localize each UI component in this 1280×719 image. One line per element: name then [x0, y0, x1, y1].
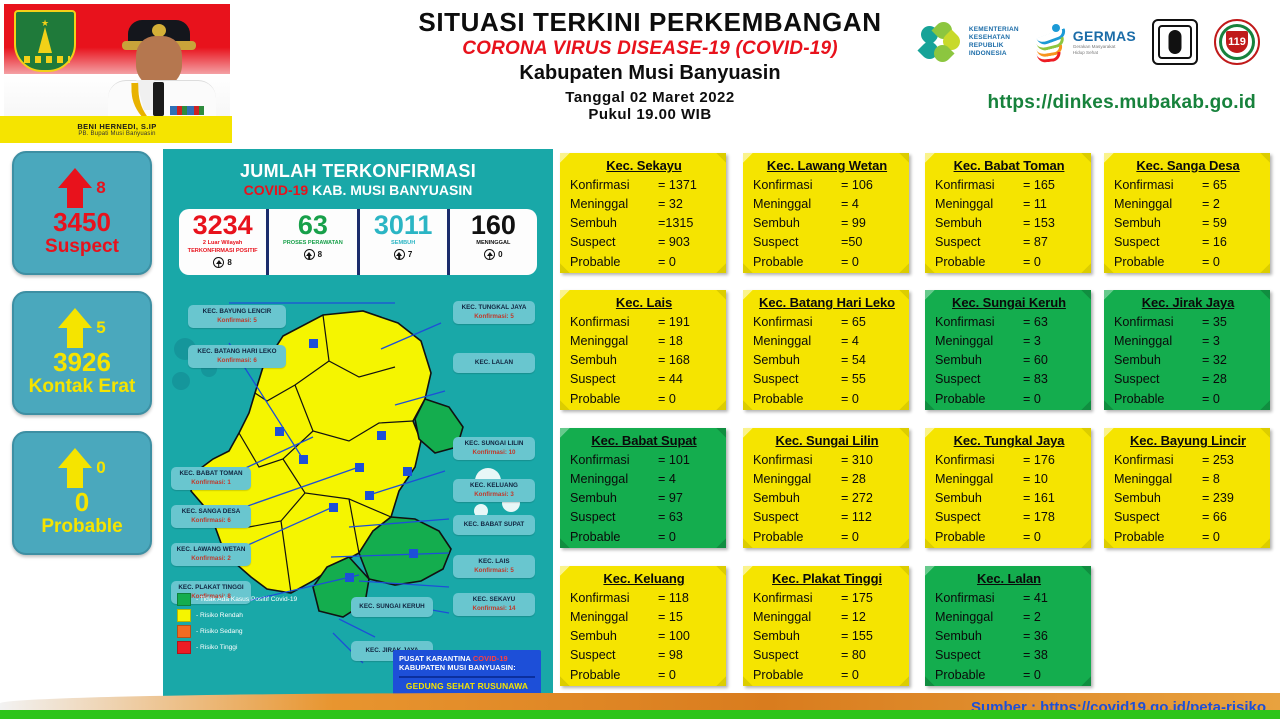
- arrow-up-circle-icon: [484, 249, 495, 260]
- arrow-up-circle-icon: [213, 257, 224, 268]
- legend-label: - Risiko Tinggi: [196, 644, 237, 651]
- district-card-lais[interactable]: Kec. Lais Konfirmasi= 191 Meninggal= 18 …: [560, 290, 726, 410]
- kontak-erat-delta: 5: [96, 318, 105, 338]
- value-probable: = 0: [841, 253, 901, 272]
- map-callout-sekayu: KEC. SEKAYU Konfirmasi: 14: [453, 593, 535, 616]
- row-label-sembuh: Sembuh: [935, 489, 1023, 508]
- row-label-sembuh: Sembuh: [753, 351, 841, 370]
- value-meninggal: = 4: [841, 332, 901, 351]
- meninggal-delta: 0: [498, 250, 502, 259]
- callout-name: KEC. SANGA DESA: [182, 508, 241, 515]
- value-probable: = 0: [1023, 390, 1083, 409]
- value-konfirmasi: = 1371: [658, 176, 718, 195]
- row-label-suspect: Suspect: [1114, 370, 1202, 389]
- quarantine-facility: GEDUNG SEHAT RUSUNAWA: [399, 681, 535, 691]
- row-label-sembuh: Sembuh: [570, 351, 658, 370]
- value-suspect: = 87: [1023, 233, 1083, 252]
- callout-name: KEC. KELUANG: [470, 482, 518, 489]
- value-probable: = 0: [1202, 390, 1262, 409]
- legend-item: - Tidak Ada Kasus Positif Covid-19: [177, 593, 297, 606]
- sembuh-label: SEMBUH: [391, 240, 415, 247]
- value-suspect: = 55: [841, 370, 901, 389]
- row-label-konfirmasi: Konfirmasi: [1114, 313, 1202, 332]
- row-label-probable: Probable: [570, 390, 658, 409]
- district-name: Kec. Tungkal Jaya: [935, 433, 1083, 448]
- district-name: Kec. Lais: [570, 295, 718, 310]
- value-meninggal: = 32: [658, 195, 718, 214]
- value-probable: = 0: [841, 666, 901, 685]
- row-label-konfirmasi: Konfirmasi: [935, 313, 1023, 332]
- district-card-sekayu[interactable]: Kec. Sekayu Konfirmasi= 1371 Meninggal= …: [560, 153, 726, 273]
- row-label-konfirmasi: Konfirmasi: [753, 313, 841, 332]
- callout-name: KEC. LALAN: [475, 359, 513, 366]
- district-card-bayung-lincir[interactable]: Kec. Bayung Lincir Konfirmasi= 253 Menin…: [1104, 428, 1270, 548]
- row-label-meninggal: Meninggal: [570, 470, 658, 489]
- row-label-probable: Probable: [935, 666, 1023, 685]
- value-meninggal: = 8: [1202, 470, 1262, 489]
- row-label-meninggal: Meninggal: [753, 195, 841, 214]
- map-callout-babat-supat: KEC. BABAT SUPAT: [453, 515, 535, 535]
- callout-name: KEC. BAYUNG LENCIR: [203, 308, 272, 315]
- value-sembuh: = 100: [658, 627, 718, 646]
- map-panel-title: JUMLAH TERKONFIRMASI COVID-19 KAB. MUSI …: [163, 149, 553, 198]
- district-name: Kec. Sanga Desa: [1114, 158, 1262, 173]
- perawatan-delta: 8: [318, 250, 322, 259]
- value-probable: = 0: [1202, 253, 1262, 272]
- value-konfirmasi: = 176: [1023, 451, 1083, 470]
- value-meninggal: = 10: [1023, 470, 1083, 489]
- arrow-up-icon: [58, 448, 92, 488]
- quarantine-center-box: PUSAT KARANTINA COVID-19 KABUPATEN MUSI …: [393, 650, 541, 695]
- legend-item: - Risiko Tinggi: [177, 641, 297, 654]
- title-line-2: CORONA VIRUS DISEASE-19 (COVID-19): [390, 38, 910, 60]
- suspect-label: Suspect: [45, 236, 119, 258]
- row-label-sembuh: Sembuh: [570, 214, 658, 233]
- value-sembuh: = 60: [1023, 351, 1083, 370]
- value-probable: = 0: [1202, 528, 1262, 547]
- probable-delta: 0: [96, 458, 105, 478]
- value-suspect: = 16: [1202, 233, 1262, 252]
- row-label-probable: Probable: [1114, 253, 1202, 272]
- value-konfirmasi: = 63: [1023, 313, 1083, 332]
- value-konfirmasi: = 106: [841, 176, 901, 195]
- value-meninggal: = 3: [1023, 332, 1083, 351]
- map-callout-babat-toman: KEC. BABAT TOMAN Konfirmasi: 1: [171, 467, 251, 490]
- row-label-konfirmasi: Konfirmasi: [1114, 451, 1202, 470]
- row-label-probable: Probable: [753, 666, 841, 685]
- value-suspect: = 38: [1023, 646, 1083, 665]
- district-card-tungkal-jaya[interactable]: Kec. Tungkal Jaya Konfirmasi= 176 Mening…: [925, 428, 1091, 548]
- district-card-babat-supat[interactable]: Kec. Babat Supat Konfirmasi= 101 Meningg…: [560, 428, 726, 548]
- row-label-suspect: Suspect: [753, 370, 841, 389]
- kontak-erat-label: Kontak Erat: [29, 376, 136, 398]
- value-konfirmasi: = 41: [1023, 589, 1083, 608]
- district-card-lawang-wetan[interactable]: Kec. Lawang Wetan Konfirmasi= 106 Mening…: [743, 153, 909, 273]
- callout-name: KEC. BABAT SUPAT: [464, 521, 525, 528]
- row-label-probable: Probable: [1114, 390, 1202, 409]
- meninggal-number: 160: [471, 212, 516, 239]
- suspect-delta: 8: [96, 178, 105, 198]
- value-meninggal: = 2: [1023, 608, 1083, 627]
- stat-card-probable: 0 0 Probable: [12, 431, 152, 555]
- callout-name: KEC. LAWANG WETAN: [177, 546, 246, 553]
- district-card-sanga-desa[interactable]: Kec. Sanga Desa Konfirmasi= 65 Meninggal…: [1104, 153, 1270, 273]
- callout-name: KEC. BABAT TOMAN: [179, 470, 242, 477]
- district-card-jirak-jaya[interactable]: Kec. Jirak Jaya Konfirmasi= 35 Meninggal…: [1104, 290, 1270, 410]
- map-callout-lawang-wetan: KEC. LAWANG WETAN Konfirmasi: 2: [171, 543, 251, 566]
- legend-item: - Risiko Rendah: [177, 609, 297, 622]
- district-card-plakat-tinggi[interactable]: Kec. Plakat Tinggi Konfirmasi= 175 Menin…: [743, 566, 909, 686]
- surveilans-epidemiologi-logo-icon: [1152, 19, 1198, 65]
- kemenkes-logo-icon: KEMENTERIAN KESEHATAN REPUBLIK INDONESIA: [921, 22, 1019, 62]
- kemenkes-line-1: KEMENTERIAN: [969, 26, 1019, 34]
- arrow-up-circle-icon: [394, 249, 405, 260]
- district-name: Kec. Lalan: [935, 571, 1083, 586]
- value-suspect: = 28: [1202, 370, 1262, 389]
- district-name: Kec. Keluang: [570, 571, 718, 586]
- row-label-konfirmasi: Konfirmasi: [935, 589, 1023, 608]
- value-sembuh: = 239: [1202, 489, 1262, 508]
- arrow-up-circle-icon: [304, 249, 315, 260]
- value-sembuh: =1315: [658, 214, 718, 233]
- row-label-probable: Probable: [935, 253, 1023, 272]
- callout-konfirmasi: Konfirmasi: 10: [458, 449, 530, 457]
- district-name: Kec. Babat Supat: [570, 433, 718, 448]
- logo-row: KEMENTERIAN KESEHATAN REPUBLIK INDONESIA…: [921, 12, 1260, 72]
- callout-name: KEC. SEKAYU: [473, 596, 515, 603]
- legend-swatch-yellow: [177, 609, 191, 622]
- value-konfirmasi: = 253: [1202, 451, 1262, 470]
- value-suspect: = 903: [658, 233, 718, 252]
- summary-cell-perawatan: 63 PROSES PERAWATAN 8: [266, 209, 356, 275]
- row-label-sembuh: Sembuh: [570, 489, 658, 508]
- summary-cell-sembuh: 3011 SEMBUH 7: [357, 209, 447, 275]
- row-label-sembuh: Sembuh: [935, 627, 1023, 646]
- map-callout-lais: KEC. LAIS Konfirmasi: 5: [453, 555, 535, 578]
- row-label-sembuh: Sembuh: [570, 627, 658, 646]
- main-content: 8 3450 Suspect 5 3926 Kontak Erat 0 0 Pr…: [0, 143, 1280, 719]
- value-probable: = 0: [841, 390, 901, 409]
- map-callout-bayung-lencir: KEC. BAYUNG LENCIR Konfirmasi: 5: [188, 305, 286, 328]
- row-label-suspect: Suspect: [935, 646, 1023, 665]
- value-konfirmasi: = 165: [1023, 176, 1083, 195]
- probable-value: 0: [75, 488, 89, 517]
- row-label-suspect: Suspect: [935, 233, 1023, 252]
- legend-label: - Tidak Ada Kasus Positif Covid-19: [196, 596, 297, 603]
- map-legend: - Tidak Ada Kasus Positif Covid-19 - Ris…: [177, 593, 297, 657]
- value-sembuh: = 54: [841, 351, 901, 370]
- value-probable: = 0: [841, 528, 901, 547]
- value-sembuh: = 59: [1202, 214, 1262, 233]
- row-label-suspect: Suspect: [753, 508, 841, 527]
- callout-name: KEC. BATANG HARI LEKO: [197, 348, 276, 355]
- callout-konfirmasi: Konfirmasi: 3: [458, 491, 530, 499]
- map-callout-sungai-lilin: KEC. SUNGAI LILIN Konfirmasi: 10: [453, 437, 535, 460]
- legend-item: - Risiko Sedang: [177, 625, 297, 638]
- row-label-sembuh: Sembuh: [753, 489, 841, 508]
- arrow-up-icon: [58, 168, 92, 208]
- value-suspect: = 44: [658, 370, 718, 389]
- row-label-probable: Probable: [753, 390, 841, 409]
- row-label-suspect: Suspect: [570, 508, 658, 527]
- row-label-suspect: Suspect: [753, 646, 841, 665]
- website-url[interactable]: https://dinkes.mubakab.go.id: [988, 92, 1256, 114]
- row-label-meninggal: Meninggal: [753, 332, 841, 351]
- district-card-sungai-lilin[interactable]: Kec. Sungai Lilin Konfirmasi= 310 Mening…: [743, 428, 909, 548]
- row-label-sembuh: Sembuh: [753, 627, 841, 646]
- terkonfirmasi-delta: 8: [227, 258, 231, 267]
- row-label-meninggal: Meninggal: [570, 332, 658, 351]
- terkonfirmasi-label: TERKONFIRMASI POSITIF: [188, 248, 258, 255]
- terkonfirmasi-number: 3234: [193, 212, 253, 239]
- district-name: Kec. Sungai Keruh: [935, 295, 1083, 310]
- district-card-sungai-keruh[interactable]: Kec. Sungai Keruh Konfirmasi= 63 Meningg…: [925, 290, 1091, 410]
- value-probable: = 0: [1023, 253, 1083, 272]
- callout-konfirmasi: Konfirmasi: 5: [458, 313, 530, 321]
- row-label-sembuh: Sembuh: [1114, 351, 1202, 370]
- suspect-value: 3450: [53, 208, 111, 237]
- legend-swatch-orange: [177, 625, 191, 638]
- value-konfirmasi: = 65: [1202, 176, 1262, 195]
- stat-card-kontak-erat: 5 3926 Kontak Erat: [12, 291, 152, 415]
- value-konfirmasi: = 310: [841, 451, 901, 470]
- district-name: Kec. Batang Hari Leko: [753, 295, 901, 310]
- value-meninggal: = 4: [658, 470, 718, 489]
- callout-name: KEC. PLAKAT TINGGI: [178, 584, 243, 591]
- official-name: BENI HERNEDI, S.IP: [4, 117, 230, 131]
- row-label-meninggal: Meninggal: [935, 332, 1023, 351]
- value-suspect: = 83: [1023, 370, 1083, 389]
- value-suspect: = 63: [658, 508, 718, 527]
- regency-emblem-icon: ★: [14, 10, 76, 72]
- value-meninggal: = 15: [658, 608, 718, 627]
- district-name: Kec. Plakat Tinggi: [753, 571, 901, 586]
- value-suspect: = 80: [841, 646, 901, 665]
- value-sembuh: = 36: [1023, 627, 1083, 646]
- row-label-sembuh: Sembuh: [935, 214, 1023, 233]
- meninggal-label: MENINGGAL: [476, 240, 510, 247]
- germas-sub-2: Hidup Sehat: [1073, 50, 1136, 56]
- district-name: Kec. Bayung Lincir: [1114, 433, 1262, 448]
- row-label-probable: Probable: [935, 528, 1023, 547]
- value-sembuh: = 32: [1202, 351, 1262, 370]
- sembuh-delta: 7: [408, 250, 412, 259]
- row-label-suspect: Suspect: [935, 508, 1023, 527]
- row-label-suspect: Suspect: [935, 370, 1023, 389]
- row-label-meninggal: Meninggal: [753, 608, 841, 627]
- map-callout-batang-hari-leko: KEC. BATANG HARI LEKO Konfirmasi: 6: [188, 345, 286, 368]
- official-name-band: BENI HERNEDI, S.IP PB. Bupati Musi Banyu…: [4, 117, 230, 143]
- district-name: Kec. Lawang Wetan: [753, 158, 901, 173]
- row-label-probable: Probable: [570, 253, 658, 272]
- stat-card-suspect: 8 3450 Suspect: [12, 151, 152, 275]
- row-label-suspect: Suspect: [570, 233, 658, 252]
- title-block: SITUASI TERKINI PERKEMBANGAN CORONA VIRU…: [390, 8, 910, 123]
- infographic-page: ★ BENI HERNEDI, S.IP PB. Bupati: [0, 0, 1280, 719]
- arrow-up-icon: [58, 308, 92, 348]
- row-label-meninggal: Meninggal: [753, 470, 841, 489]
- legend-swatch-red: [177, 641, 191, 654]
- value-sembuh: = 155: [841, 627, 901, 646]
- value-konfirmasi: = 191: [658, 313, 718, 332]
- title-line-1: SITUASI TERKINI PERKEMBANGAN: [390, 8, 910, 37]
- call-center-119-logo-icon: 119: [1214, 19, 1260, 65]
- value-sembuh: = 168: [658, 351, 718, 370]
- value-suspect: =50: [841, 233, 901, 252]
- row-label-meninggal: Meninggal: [570, 195, 658, 214]
- callout-konfirmasi: Konfirmasi: 14: [458, 605, 530, 613]
- row-label-probable: Probable: [570, 528, 658, 547]
- callout-konfirmasi: Konfirmasi: 5: [458, 567, 530, 575]
- district-name: Kec. Babat Toman: [935, 158, 1083, 173]
- map-title-line-1: JUMLAH TERKONFIRMASI: [163, 161, 553, 182]
- map-callout-tungkal-jaya: KEC. TUNGKAL JAYA Konfirmasi: 5: [453, 301, 535, 324]
- district-name: Kec. Sekayu: [570, 158, 718, 173]
- value-konfirmasi: = 118: [658, 589, 718, 608]
- kontak-erat-value: 3926: [53, 348, 111, 377]
- callout-konfirmasi: Konfirmasi: 6: [176, 517, 246, 525]
- official-role: PB. Bupati Musi Banyuasin: [4, 131, 230, 137]
- value-probable: = 0: [1023, 666, 1083, 685]
- district-name: Kec. Jirak Jaya: [1114, 295, 1262, 310]
- row-label-konfirmasi: Konfirmasi: [570, 313, 658, 332]
- value-konfirmasi: = 101: [658, 451, 718, 470]
- value-probable: = 0: [658, 253, 718, 272]
- summary-strip: 3234 2 Luar Wilayah TERKONFIRMASI POSITI…: [179, 209, 537, 275]
- row-label-sembuh: Sembuh: [1114, 489, 1202, 508]
- callout-name: KEC. LAIS: [478, 558, 509, 565]
- map-title-rest: KAB. MUSI BANYUASIN: [308, 182, 472, 198]
- value-suspect: = 98: [658, 646, 718, 665]
- row-label-meninggal: Meninggal: [570, 608, 658, 627]
- map-title-line-2: COVID-19 KAB. MUSI BANYUASIN: [163, 182, 553, 198]
- legend-swatch-green: [177, 593, 191, 606]
- row-label-meninggal: Meninggal: [935, 195, 1023, 214]
- title-line-3: Kabupaten Musi Banyuasin: [390, 62, 910, 85]
- callout-konfirmasi: Konfirmasi: 2: [176, 555, 246, 563]
- value-probable: = 0: [658, 666, 718, 685]
- value-suspect: = 178: [1023, 508, 1083, 527]
- row-label-probable: Probable: [935, 390, 1023, 409]
- perawatan-number: 63: [298, 212, 328, 239]
- row-label-suspect: Suspect: [570, 370, 658, 389]
- row-label-sembuh: Sembuh: [935, 351, 1023, 370]
- row-label-probable: Probable: [570, 666, 658, 685]
- germas-title: GERMAS: [1073, 28, 1136, 44]
- row-label-konfirmasi: Konfirmasi: [935, 451, 1023, 470]
- quarantine-line-1a: PUSAT KARANTINA: [399, 654, 473, 663]
- row-label-meninggal: Meninggal: [1114, 332, 1202, 351]
- row-label-sembuh: Sembuh: [1114, 214, 1202, 233]
- perawatan-label: PROSES PERAWATAN: [283, 240, 343, 247]
- value-probable: = 0: [658, 528, 718, 547]
- germas-logo-icon: GERMAS Gerakan Masyarakat Hidup Sehat: [1035, 24, 1136, 60]
- row-label-meninggal: Meninggal: [1114, 470, 1202, 489]
- value-sembuh: = 161: [1023, 489, 1083, 508]
- value-suspect: = 66: [1202, 508, 1262, 527]
- report-date: Tanggal 02 Maret 2022: [390, 89, 910, 106]
- row-label-konfirmasi: Konfirmasi: [570, 589, 658, 608]
- legend-label: - Risiko Rendah: [196, 612, 243, 619]
- value-suspect: = 112: [841, 508, 901, 527]
- row-label-meninggal: Meninggal: [1114, 195, 1202, 214]
- quarantine-line-2: KABUPATEN MUSI BANYUASIN:: [399, 663, 535, 673]
- callout-name: KEC. SUNGAI KERUH: [359, 603, 424, 610]
- value-konfirmasi: = 175: [841, 589, 901, 608]
- terkonfirmasi-extra: 2 Luar Wilayah: [203, 240, 242, 247]
- callout-konfirmasi: Konfirmasi: 1: [176, 479, 246, 487]
- row-label-konfirmasi: Konfirmasi: [1114, 176, 1202, 195]
- kemenkes-line-3: REPUBLIK: [969, 42, 1019, 50]
- summary-cell-terkonfirmasi: 3234 2 Luar Wilayah TERKONFIRMASI POSITI…: [179, 209, 266, 275]
- row-label-suspect: Suspect: [1114, 508, 1202, 527]
- callout-konfirmasi: Konfirmasi: 5: [193, 317, 281, 325]
- value-sembuh: = 97: [658, 489, 718, 508]
- footer-green-band: [0, 710, 1280, 719]
- row-label-meninggal: Meninggal: [935, 608, 1023, 627]
- header: ★ BENI HERNEDI, S.IP PB. Bupati: [0, 0, 1280, 143]
- map-panel: JUMLAH TERKONFIRMASI COVID-19 KAB. MUSI …: [163, 149, 553, 709]
- kemenkes-line-4: INDONESIA: [969, 50, 1019, 58]
- map-callout-sanga-desa: KEC. SANGA DESA Konfirmasi: 6: [171, 505, 251, 528]
- value-sembuh: = 272: [841, 489, 901, 508]
- value-sembuh: = 99: [841, 214, 901, 233]
- value-konfirmasi: = 35: [1202, 313, 1262, 332]
- value-meninggal: = 28: [841, 470, 901, 489]
- row-label-konfirmasi: Konfirmasi: [753, 176, 841, 195]
- row-label-meninggal: Meninggal: [935, 470, 1023, 489]
- report-time: Pukul 19.00 WIB: [390, 106, 910, 123]
- sembuh-number: 3011: [374, 212, 433, 239]
- legend-label: - Risiko Sedang: [196, 628, 243, 635]
- row-label-konfirmasi: Konfirmasi: [570, 176, 658, 195]
- summary-cell-meninggal: 160 MENINGGAL 0: [447, 209, 537, 275]
- district-card-keluang[interactable]: Kec. Keluang Konfirmasi= 118 Meninggal= …: [560, 566, 726, 686]
- value-meninggal: = 4: [841, 195, 901, 214]
- value-meninggal: = 3: [1202, 332, 1262, 351]
- quarantine-covid-tag: COVID-19: [473, 654, 508, 663]
- value-konfirmasi: = 65: [841, 313, 901, 332]
- row-label-suspect: Suspect: [570, 646, 658, 665]
- callout-name: KEC. SUNGAI LILIN: [465, 440, 524, 447]
- map-callout-lalan: KEC. LALAN: [453, 353, 535, 373]
- district-card-batang-hari-leko[interactable]: Kec. Batang Hari Leko Konfirmasi= 65 Men…: [743, 290, 909, 410]
- row-label-probable: Probable: [753, 253, 841, 272]
- kemenkes-line-2: KESEHATAN: [969, 34, 1019, 42]
- value-meninggal: = 11: [1023, 195, 1083, 214]
- row-label-suspect: Suspect: [753, 233, 841, 252]
- district-name: Kec. Sungai Lilin: [753, 433, 901, 448]
- value-meninggal: = 12: [841, 608, 901, 627]
- callout-konfirmasi: Konfirmasi: 6: [193, 357, 281, 365]
- value-meninggal: = 2: [1202, 195, 1262, 214]
- row-label-probable: Probable: [1114, 528, 1202, 547]
- row-label-konfirmasi: Konfirmasi: [935, 176, 1023, 195]
- value-sembuh: = 153: [1023, 214, 1083, 233]
- row-label-konfirmasi: Konfirmasi: [753, 451, 841, 470]
- row-label-konfirmasi: Konfirmasi: [753, 589, 841, 608]
- row-label-probable: Probable: [753, 528, 841, 547]
- map-title-covid: COVID-19: [244, 182, 309, 198]
- row-label-suspect: Suspect: [1114, 233, 1202, 252]
- callout-name: KEC. TUNGKAL JAYA: [462, 304, 527, 311]
- district-card-lalan[interactable]: Kec. Lalan Konfirmasi= 41 Meninggal= 2 S…: [925, 566, 1091, 686]
- map-callout-sungai-keruh: KEC. SUNGAI KERUH: [351, 597, 433, 617]
- probable-label: Probable: [41, 516, 122, 538]
- district-card-babat-toman[interactable]: Kec. Babat Toman Konfirmasi= 165 Meningg…: [925, 153, 1091, 273]
- row-label-konfirmasi: Konfirmasi: [570, 451, 658, 470]
- value-meninggal: = 18: [658, 332, 718, 351]
